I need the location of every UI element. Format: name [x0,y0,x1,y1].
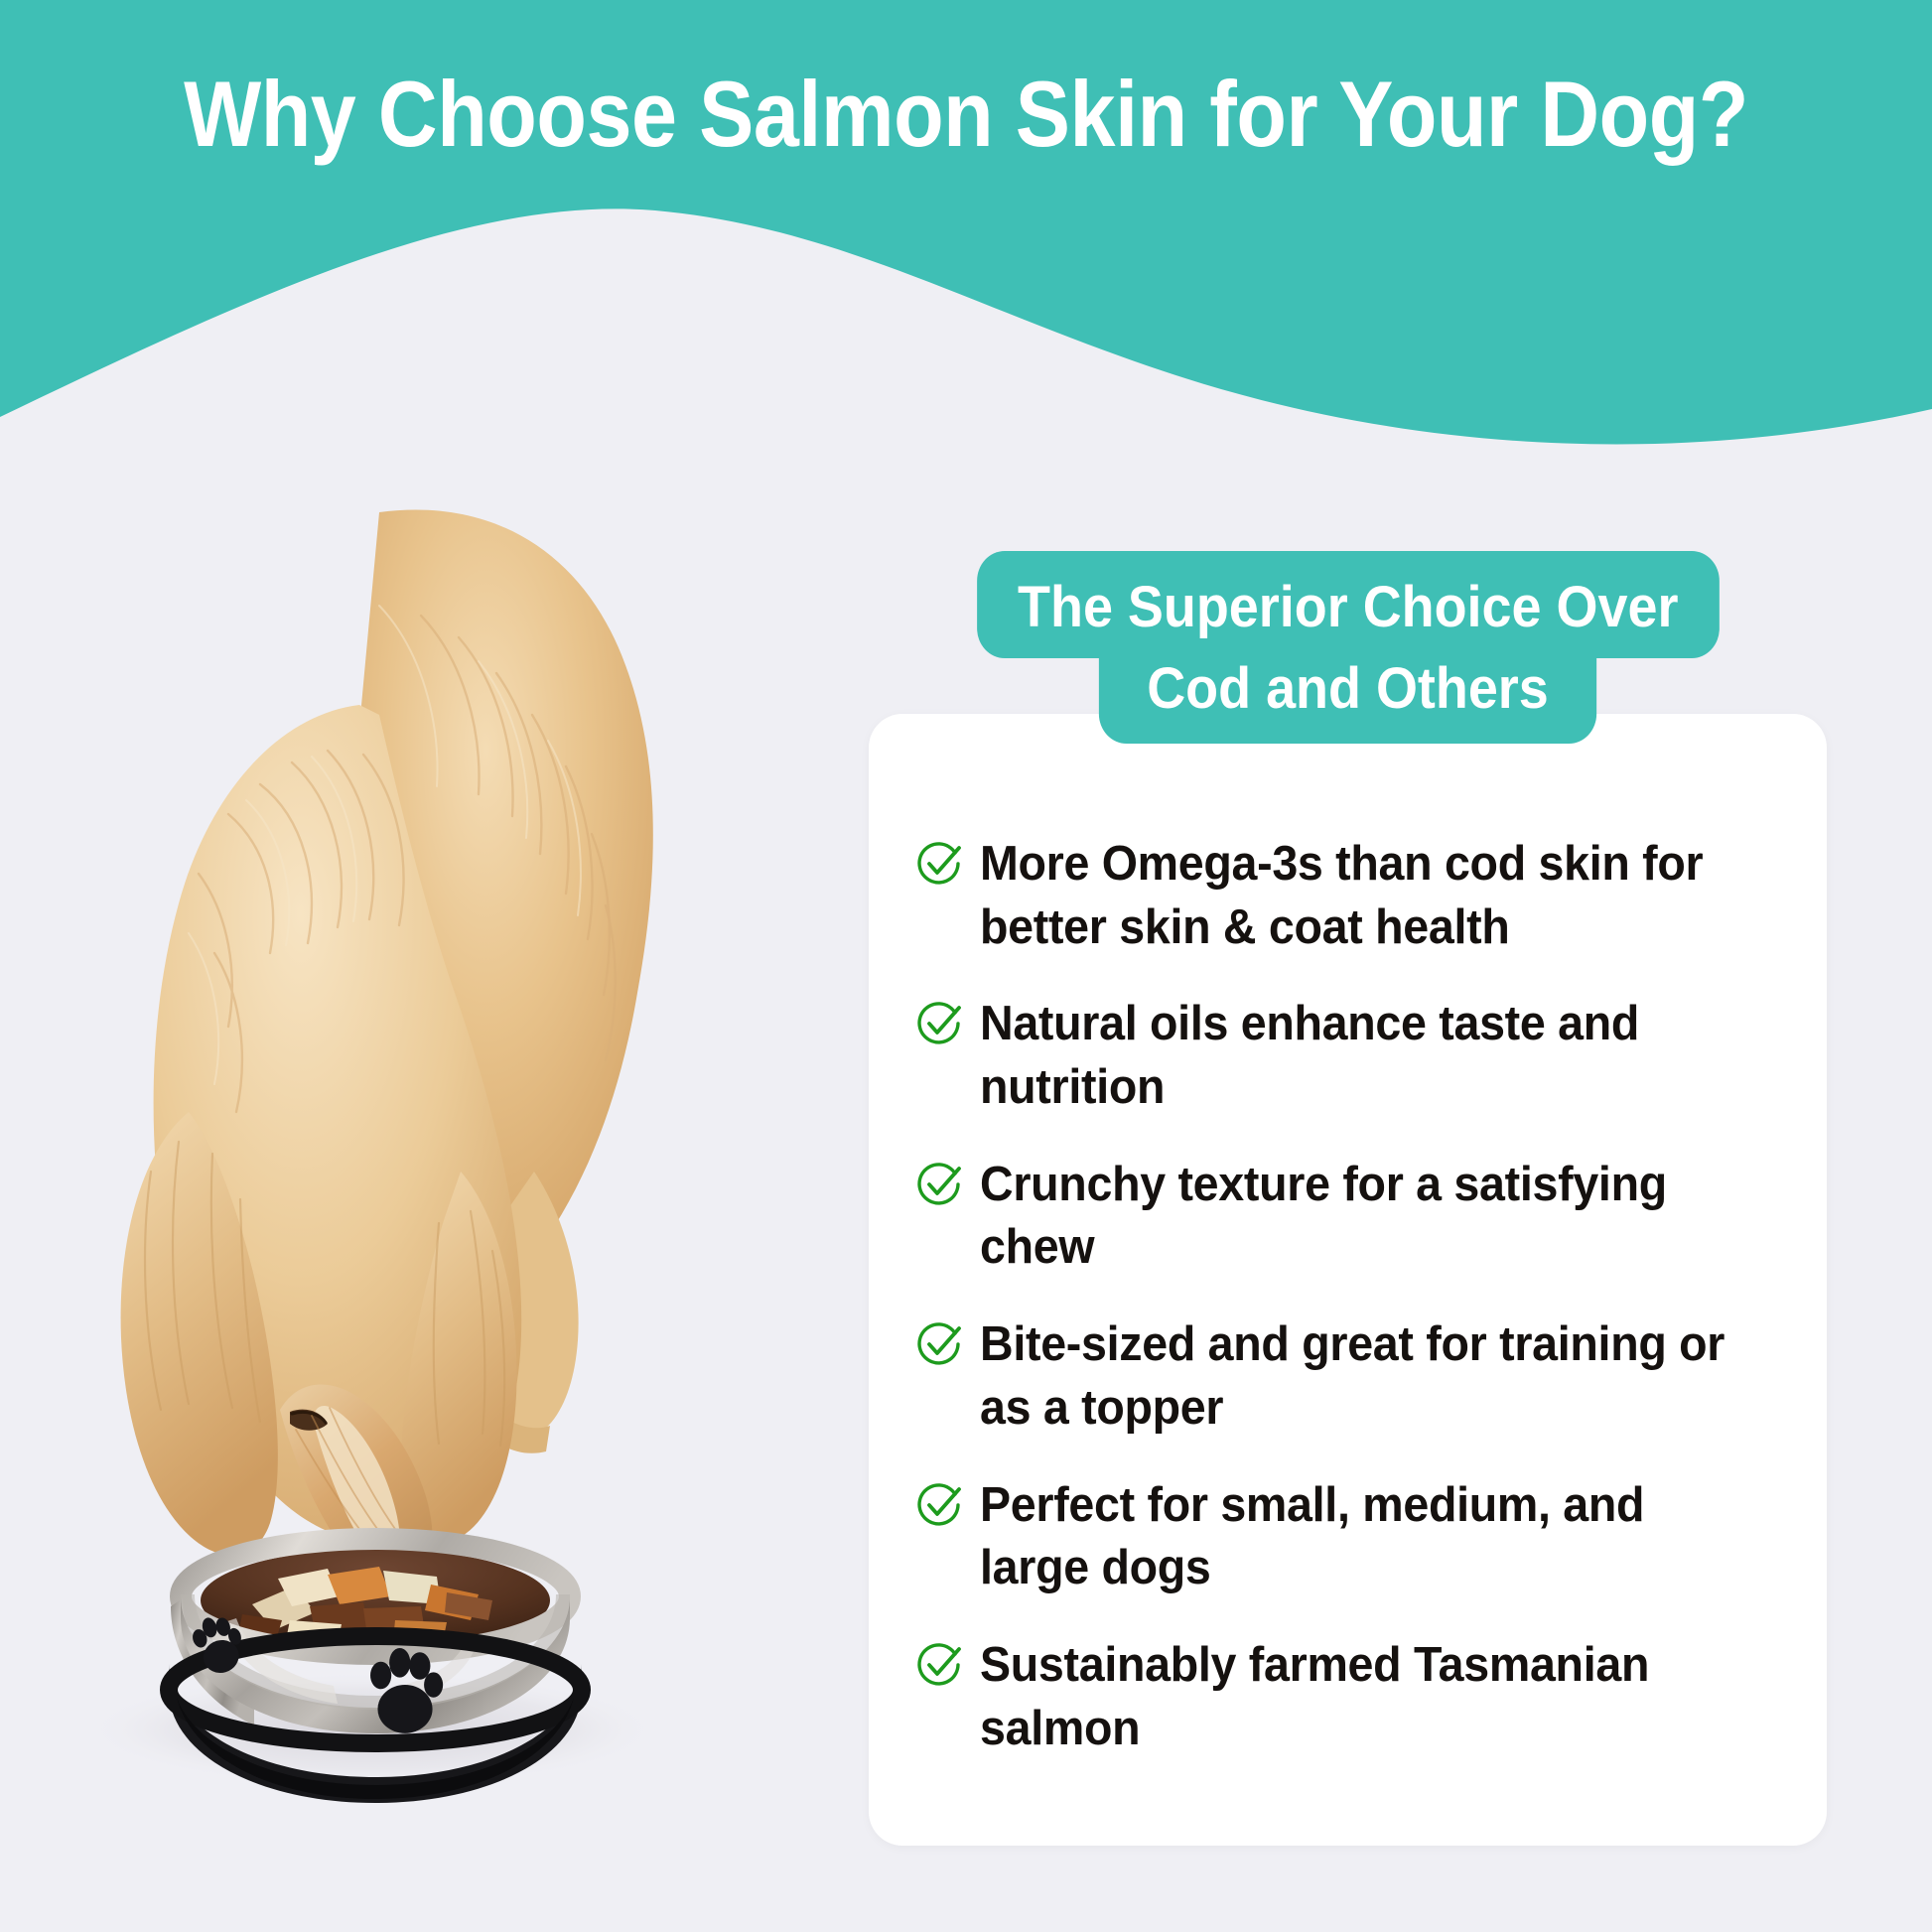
benefits-heading-line-2: Cod and Others [1099,646,1596,744]
benefit-item: Bite-sized and great for training or as … [914,1313,1781,1440]
check-circle-icon [914,1160,964,1209]
benefits-list-card: More Omega-3s than cod skin for better s… [869,714,1827,1846]
dog-photo [30,417,784,1827]
benefit-item: Crunchy texture for a satisfying chew [914,1154,1781,1280]
check-circle-icon [914,1480,964,1530]
check-circle-icon [914,1319,964,1369]
check-circle-icon [914,1640,964,1690]
benefit-text: Perfect for small, medium, and large dog… [980,1474,1741,1600]
benefit-item: Natural oils enhance taste and nutrition [914,993,1781,1119]
benefit-item: Sustainably farmed Tasmanian salmon [914,1634,1781,1760]
benefit-text: More Omega-3s than cod skin for better s… [980,833,1741,959]
benefit-text: Sustainably farmed Tasmanian salmon [980,1634,1741,1760]
benefits-panel: The Superior Choice Over Cod and Others … [869,551,1827,1846]
check-circle-icon [914,999,964,1048]
benefit-item: Perfect for small, medium, and large dog… [914,1474,1781,1600]
benefit-text: Crunchy texture for a satisfying chew [980,1154,1741,1280]
benefits-heading-line-1: The Superior Choice Over [977,551,1719,658]
benefits-heading: The Superior Choice Over Cod and Others [869,551,1827,744]
check-circle-icon [914,839,964,889]
infographic-root: Why Choose Salmon Skin for Your Dog? [0,0,1932,1932]
benefit-text: Natural oils enhance taste and nutrition [980,993,1741,1119]
benefit-item: More Omega-3s than cod skin for better s… [914,833,1781,959]
page-title: Why Choose Salmon Skin for Your Dog? [116,66,1816,164]
benefit-text: Bite-sized and great for training or as … [980,1313,1741,1440]
